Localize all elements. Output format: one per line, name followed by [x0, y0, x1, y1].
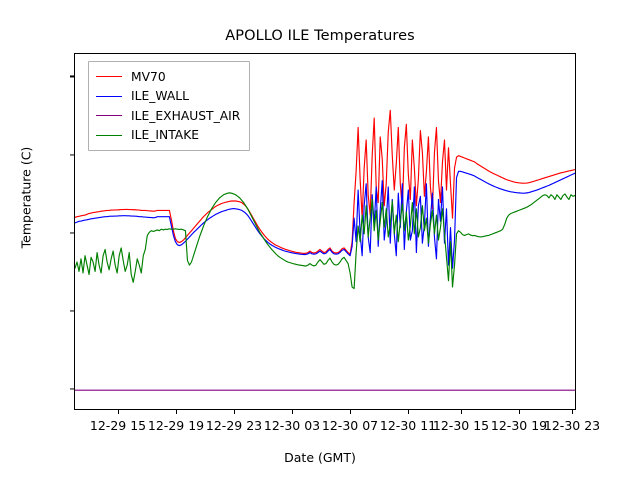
x-tick-label: 12-29 19 — [148, 418, 204, 433]
legend-label: MV70 — [131, 70, 166, 84]
x-tick-label: 12-29 15 — [90, 418, 146, 433]
x-tick-label: 12-30 03 — [264, 418, 320, 433]
x-tick-mark — [292, 410, 293, 414]
x-tick-mark — [234, 410, 235, 414]
chart-figure: APOLLO ILE Temperatures Temperature (C) … — [0, 0, 640, 480]
legend-item-mv70[interactable]: MV70 — [96, 67, 240, 87]
chart-legend: MV70ILE_WALLILE_EXHAUST_AIRILE_INTAKE — [88, 61, 250, 151]
legend-swatch-icon — [96, 115, 122, 116]
x-tick-mark — [350, 410, 351, 414]
x-tick-mark — [176, 410, 177, 414]
legend-item-ile_wall[interactable]: ILE_WALL — [96, 87, 240, 107]
x-tick-label: 12-30 07 — [322, 418, 378, 433]
legend-label: ILE_INTAKE — [131, 128, 199, 142]
x-tick-mark — [118, 410, 119, 414]
x-tick-mark — [461, 410, 462, 414]
x-axis-label: Date (GMT) — [0, 450, 640, 465]
series-line-ile_intake — [75, 193, 575, 289]
legend-label: ILE_EXHAUST_AIR — [131, 109, 240, 123]
legend-item-ile_intake[interactable]: ILE_INTAKE — [96, 126, 240, 146]
x-tick-label: 12-30 23 — [544, 418, 600, 433]
legend-swatch-icon — [96, 76, 122, 77]
x-tick-label: 12-29 23 — [206, 418, 262, 433]
legend-swatch-icon — [96, 135, 122, 136]
x-tick-label: 12-30 11 — [380, 418, 436, 433]
series-line-ile_wall — [75, 171, 575, 268]
chart-title: APOLLO ILE Temperatures — [0, 28, 640, 44]
x-tick-mark — [519, 410, 520, 414]
x-tick-mark — [408, 410, 409, 414]
legend-item-ile_exhaust_air[interactable]: ILE_EXHAUST_AIR — [96, 106, 240, 126]
x-tick-mark — [572, 410, 573, 414]
legend-label: ILE_WALL — [131, 89, 189, 103]
x-tick-label: 12-30 15 — [433, 418, 489, 433]
legend-swatch-icon — [96, 96, 122, 97]
y-axis-label: Temperature (C) — [19, 88, 34, 308]
x-tick-label: 12-30 19 — [491, 418, 547, 433]
